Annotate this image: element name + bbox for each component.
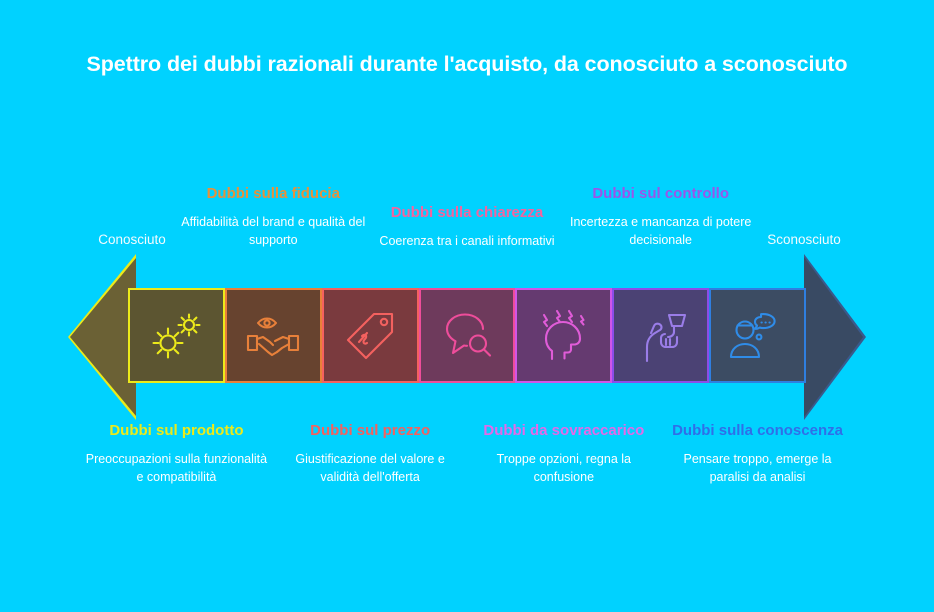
stage-box-controllo[interactable]: [612, 288, 709, 383]
callout-chiarezza: Dubbi sulla chiarezzaCoerenza tra i cana…: [372, 202, 562, 250]
stage-box-fiducia[interactable]: [225, 288, 322, 383]
stage-box-row: [128, 288, 806, 383]
callout-prezzo: Dubbi sul prezzoGiustificazione del valo…: [275, 420, 465, 487]
left-arrow: [70, 258, 136, 416]
speech-bubble-search-icon: [439, 311, 495, 361]
callout-body-prodotto: Preoccupazioni sulla funzionalità e comp…: [81, 450, 271, 486]
callout-heading-fiducia: Dubbi sulla fiducia: [178, 183, 368, 204]
head-overload-icon: [536, 309, 592, 363]
callout-conoscenza: Dubbi sulla conoscenzaPensare troppo, em…: [663, 420, 853, 487]
stage-box-prodotto[interactable]: [128, 288, 225, 383]
callout-prodotto: Dubbi sul prodottoPreoccupazioni sulla f…: [81, 420, 271, 487]
callout-body-conoscenza: Pensare troppo, emerge la paralisi da an…: [663, 450, 853, 486]
stage-box-prezzo[interactable]: [322, 288, 419, 383]
person-thought-icon: [728, 311, 786, 361]
gears-icon: [148, 310, 204, 362]
callout-body-prezzo: Giustificazione del valore e validità de…: [275, 450, 465, 486]
stage-box-conoscenza[interactable]: [709, 288, 806, 383]
page-title: Spettro dei dubbi razionali durante l'ac…: [0, 52, 934, 77]
callout-heading-sovraccarico: Dubbi da sovraccarico: [469, 420, 659, 441]
endpoint-label-unknown: Sconosciuto: [742, 232, 866, 247]
callout-fiducia: Dubbi sulla fiduciaAffidabilità del bran…: [178, 183, 368, 250]
price-tag-icon: [343, 309, 397, 363]
callout-heading-prodotto: Dubbi sul prodotto: [81, 420, 271, 441]
right-arrow: [804, 257, 863, 417]
callout-body-sovraccarico: Troppe opzioni, regna la confusione: [469, 450, 659, 486]
callout-controllo: Dubbi sul controlloIncertezza e mancanza…: [566, 183, 756, 250]
endpoint-label-known: Conosciuto: [70, 232, 194, 247]
callout-heading-conoscenza: Dubbi sulla conoscenza: [663, 420, 853, 441]
callout-heading-controllo: Dubbi sul controllo: [566, 183, 756, 204]
callout-heading-prezzo: Dubbi sul prezzo: [275, 420, 465, 441]
callout-body-fiducia: Affidabilità del brand e qualità del sup…: [178, 213, 368, 249]
callout-sovraccarico: Dubbi da sovraccaricoTroppe opzioni, reg…: [469, 420, 659, 487]
stage-box-chiarezza[interactable]: [419, 288, 516, 383]
hand-choice-icon: [633, 309, 689, 363]
infographic-canvas: Spettro dei dubbi razionali durante l'ac…: [0, 0, 934, 612]
callout-body-chiarezza: Coerenza tra i canali informativi: [372, 232, 562, 250]
eye-handshake-icon: [244, 310, 302, 362]
callout-heading-chiarezza: Dubbi sulla chiarezza: [372, 202, 562, 223]
stage-box-sovraccarico[interactable]: [515, 288, 612, 383]
callout-body-controllo: Incertezza e mancanza di potere decision…: [566, 213, 756, 249]
